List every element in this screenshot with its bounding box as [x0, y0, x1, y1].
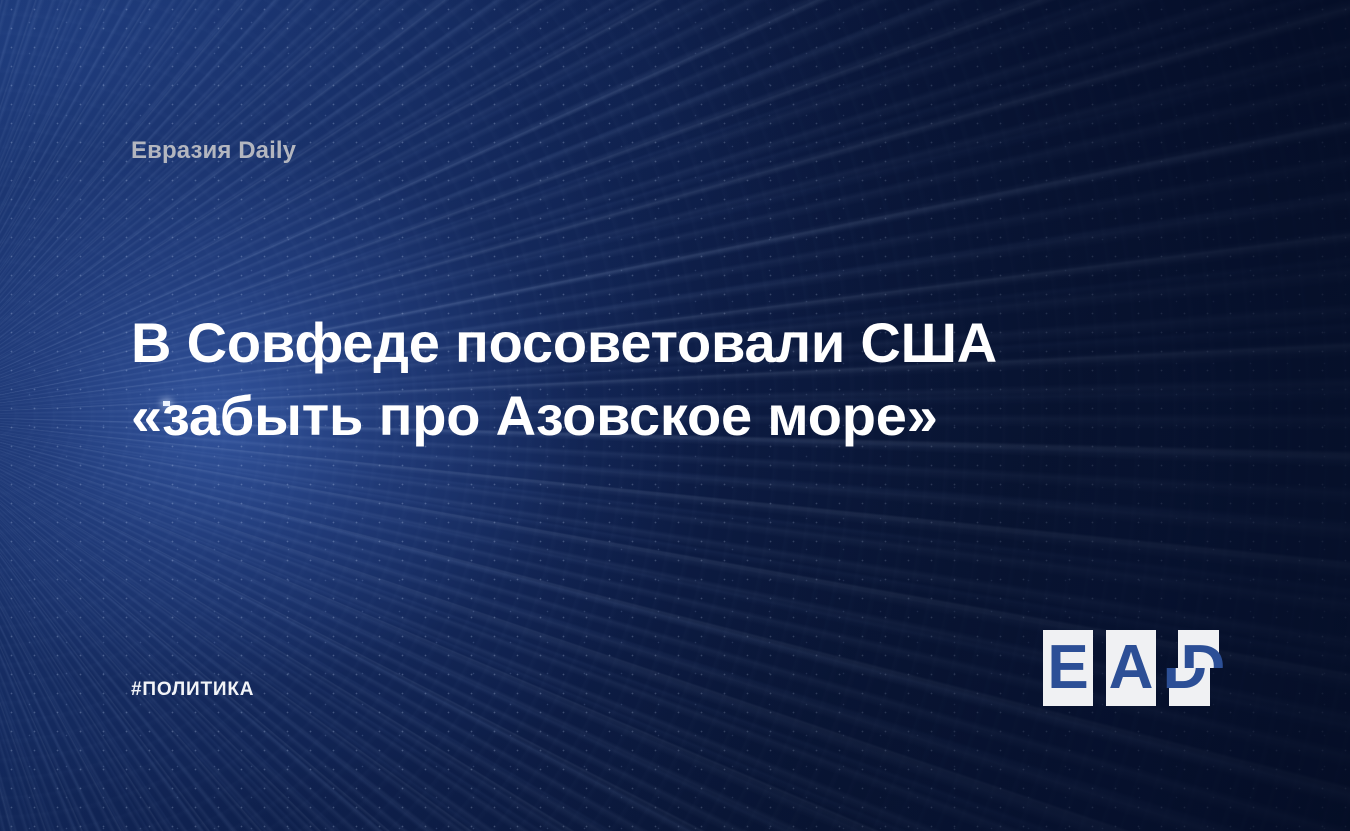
logo-letter-d-glyph-top: D	[1178, 630, 1228, 668]
ead-logo[interactable]: E A D D	[1043, 630, 1221, 706]
logo-letter-e: E	[1043, 630, 1093, 706]
logo-tile-d: D D	[1169, 630, 1219, 706]
logo-letter-d-bottom-half: D	[1160, 668, 1210, 706]
page-title: В Совфеде посоветовали США «забыть про А…	[131, 306, 1221, 452]
logo-letter-d-glyph-bottom: D	[1160, 668, 1210, 706]
news-share-card: Евразия Daily В Совфеде посоветовали США…	[0, 0, 1350, 831]
logo-letter-a: A	[1106, 630, 1156, 706]
logo-letter-d-top-half: D	[1178, 630, 1228, 668]
card-content: Евразия Daily В Совфеде посоветовали США…	[0, 0, 1350, 831]
logo-tile-a: A	[1106, 630, 1156, 706]
category-tag[interactable]: #ПОЛИТИКА	[131, 679, 254, 701]
brand-name: Евразия Daily	[131, 137, 296, 165]
logo-tile-e: E	[1043, 630, 1093, 706]
